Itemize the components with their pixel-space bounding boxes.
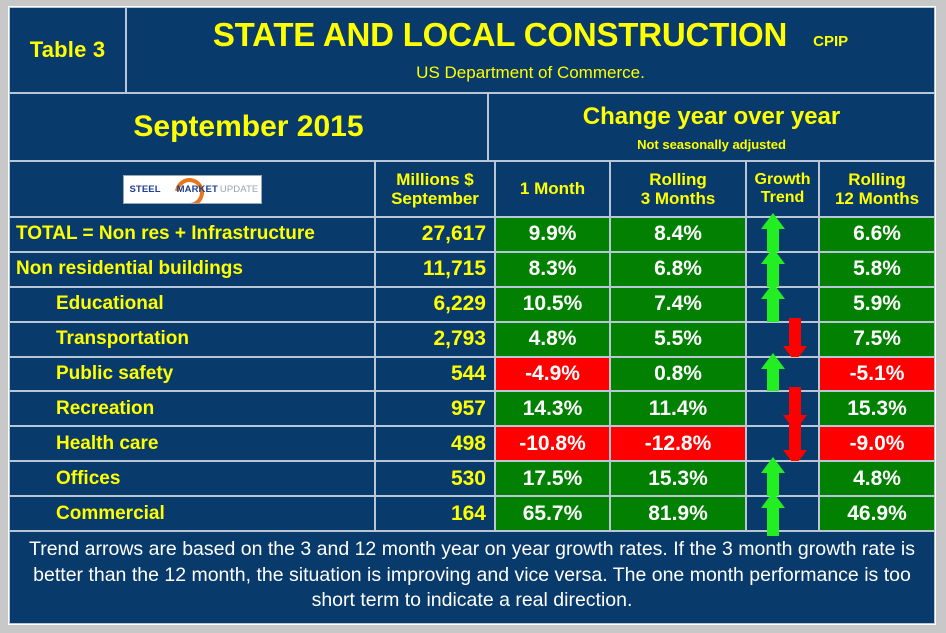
row-rolling-3-cell: 0.8% (610, 357, 746, 392)
row-one-month: 4.8% (529, 327, 577, 351)
row-millions-cell: 530 (375, 461, 495, 496)
row-rolling-3-cell: 6.8% (610, 252, 746, 287)
row-rolling-12-cell: 6.6% (819, 217, 935, 252)
row-rolling-3-cell: 5.5% (610, 322, 746, 357)
row-one-month-cell: 65.7% (495, 496, 610, 531)
row-label-cell: Recreation (9, 391, 375, 426)
footnote: Trend arrows are based on the 3 and 12 m… (9, 531, 935, 624)
row-one-month: 65.7% (523, 502, 583, 526)
footnote-text: Trend arrows are based on the 3 and 12 m… (22, 537, 922, 614)
title-badge: CPIP (813, 33, 848, 50)
column-header-rolling-12: Rolling 12 Months (819, 161, 935, 217)
period-band: September 2015 Change year over year Not… (9, 93, 935, 161)
row-rolling-12-cell: 5.8% (819, 252, 935, 287)
column-header-one-month: 1 Month (495, 161, 610, 217)
row-rolling-3-cell: -12.8% (610, 426, 746, 461)
row-rolling-12-cell: 4.8% (819, 461, 935, 496)
row-one-month-cell: 10.5% (495, 287, 610, 322)
row-label-cell: Offices (9, 461, 375, 496)
row-rolling-12-cell: 5.9% (819, 287, 935, 322)
row-rolling-12: 5.8% (853, 257, 901, 281)
column-header-millions: Millions $ September (375, 161, 495, 217)
row-rolling-12: 15.3% (847, 397, 907, 421)
row-label-cell: Non residential buildings (9, 252, 375, 287)
row-millions: 544 (451, 362, 486, 386)
row-rolling-3-cell: 8.4% (610, 217, 746, 252)
period-label: September 2015 (133, 110, 363, 144)
row-rolling-12-cell: 7.5% (819, 322, 935, 357)
row-rolling-3: 81.9% (648, 502, 708, 526)
table-sheet: Table 3 STATE AND LOCAL CONSTRUCTION CPI… (8, 6, 936, 625)
row-rolling-3: 8.4% (654, 222, 702, 246)
change-note: Not seasonally adjusted (637, 137, 786, 152)
column-header-rolling-12-line1: Rolling (848, 170, 906, 189)
row-rolling-3-cell: 15.3% (610, 461, 746, 496)
row-millions: 6,229 (433, 292, 486, 316)
column-header-growth-trend-line2: Trend (761, 189, 805, 207)
row-one-month: -10.8% (519, 432, 586, 456)
row-one-month-cell: 4.8% (495, 322, 610, 357)
row-label: Commercial (56, 503, 165, 525)
column-header-row: STEELMARKETUPDATE Millions $ September 1… (9, 161, 935, 217)
row-rolling-3: 7.4% (654, 292, 702, 316)
row-rolling-3-cell: 7.4% (610, 287, 746, 322)
row-rolling-12-cell: 46.9% (819, 496, 935, 531)
row-label: Offices (56, 468, 120, 490)
row-one-month-cell: -4.9% (495, 357, 610, 392)
row-rolling-3-cell: 81.9% (610, 496, 746, 531)
row-rolling-12: -5.1% (850, 362, 905, 386)
row-millions-cell: 27,617 (375, 217, 495, 252)
row-label: Educational (56, 293, 164, 315)
row-rolling-12-cell: -5.1% (819, 357, 935, 392)
column-header-growth-trend: Growth Trend (746, 161, 819, 217)
row-millions: 498 (451, 432, 486, 456)
title-row: STATE AND LOCAL CONSTRUCTION CPIP (127, 16, 934, 54)
row-rolling-12-cell: 15.3% (819, 391, 935, 426)
row-rolling-3: 6.8% (654, 257, 702, 281)
row-label: Health care (56, 433, 158, 455)
row-label: Non residential buildings (16, 258, 243, 280)
row-one-month-cell: 9.9% (495, 217, 610, 252)
row-label: Recreation (56, 398, 154, 420)
title-band: Table 3 STATE AND LOCAL CONSTRUCTION CPI… (9, 7, 935, 93)
row-rolling-12: 4.8% (853, 467, 901, 491)
row-millions-cell: 11,715 (375, 252, 495, 287)
logo-word-steel: STEEL (130, 184, 161, 195)
steel-market-update-logo: STEELMARKETUPDATE (123, 175, 262, 204)
row-millions: 164 (451, 502, 486, 526)
row-millions: 27,617 (422, 222, 486, 246)
row-label-cell: Health care (9, 426, 375, 461)
row-one-month: 14.3% (523, 397, 583, 421)
column-header-rolling-3: Rolling 3 Months (610, 161, 746, 217)
row-millions-cell: 498 (375, 426, 495, 461)
row-one-month-cell: 14.3% (495, 391, 610, 426)
slide-frame: Table 3 STATE AND LOCAL CONSTRUCTION CPI… (0, 0, 946, 633)
row-rolling-3-cell: 11.4% (610, 391, 746, 426)
row-millions-cell: 2,793 (375, 322, 495, 357)
title-source: US Department of Commerce. (416, 63, 645, 83)
logo-cell: STEELMARKETUPDATE (9, 161, 375, 217)
row-rolling-3: 5.5% (654, 327, 702, 351)
row-label: TOTAL = Non res + Infrastructure (16, 223, 315, 245)
row-millions-cell: 164 (375, 496, 495, 531)
row-millions-cell: 6,229 (375, 287, 495, 322)
row-rolling-12: -9.0% (850, 432, 905, 456)
row-label-cell: Transportation (9, 322, 375, 357)
table-row: Commercial16465.7%81.9%46.9% (9, 496, 935, 531)
table-row: TOTAL = Non res + Infrastructure27,6179.… (9, 217, 935, 252)
table-row: Health care498-10.8%-12.8%-9.0% (9, 426, 935, 461)
row-label: Transportation (56, 328, 189, 350)
row-one-month: -4.9% (525, 362, 580, 386)
row-millions: 11,715 (423, 257, 486, 281)
row-one-month: 9.9% (529, 222, 577, 246)
row-millions: 957 (451, 397, 486, 421)
row-rolling-12: 46.9% (847, 502, 907, 526)
row-one-month-cell: 8.3% (495, 252, 610, 287)
logo-word-update: UPDATE (220, 184, 258, 195)
row-one-month: 8.3% (529, 257, 577, 281)
row-rolling-3: 0.8% (654, 362, 702, 386)
title-block: STATE AND LOCAL CONSTRUCTION CPIP US Dep… (126, 7, 935, 93)
row-millions-cell: 544 (375, 357, 495, 392)
row-rolling-12: 5.9% (853, 292, 901, 316)
row-millions-cell: 957 (375, 391, 495, 426)
table-number: Table 3 (9, 7, 126, 93)
row-rolling-3: 11.4% (649, 397, 707, 421)
data-rows: TOTAL = Non res + Infrastructure27,6179.… (9, 217, 935, 531)
table-row: Offices53017.5%15.3%4.8% (9, 461, 935, 496)
column-header-millions-line2: September (391, 189, 479, 208)
period-cell: September 2015 (9, 93, 488, 161)
row-one-month: 17.5% (523, 467, 583, 491)
row-one-month-cell: 17.5% (495, 461, 610, 496)
table-row: Transportation2,7934.8%5.5%7.5% (9, 322, 935, 357)
row-millions: 2,793 (433, 327, 486, 351)
logo-text: STEELMARKETUPDATE (124, 184, 259, 195)
row-label-cell: Public safety (9, 357, 375, 392)
column-header-rolling-12-line2: 12 Months (835, 189, 919, 208)
row-rolling-3: 15.3% (648, 467, 708, 491)
column-header-one-month-label: 1 Month (520, 179, 585, 198)
change-title: Change year over year (583, 103, 840, 131)
column-header-growth-trend-line1: Growth (755, 171, 811, 189)
column-header-rolling-3-line2: 3 Months (641, 189, 716, 208)
row-rolling-12: 7.5% (853, 327, 901, 351)
row-one-month: 10.5% (523, 292, 583, 316)
logo-word-market: MARKET (177, 184, 218, 195)
row-rolling-12-cell: -9.0% (819, 426, 935, 461)
column-header-millions-line1: Millions $ (396, 170, 473, 189)
row-label-cell: Commercial (9, 496, 375, 531)
row-millions: 530 (451, 467, 486, 491)
change-group-cell: Change year over year Not seasonally adj… (488, 93, 935, 161)
column-header-rolling-3-line1: Rolling (649, 170, 707, 189)
arrow-up-icon (760, 491, 786, 537)
row-rolling-3: -12.8% (645, 432, 712, 456)
row-label-cell: TOTAL = Non res + Infrastructure (9, 217, 375, 252)
row-one-month-cell: -10.8% (495, 426, 610, 461)
row-label-cell: Educational (9, 287, 375, 322)
row-growth-trend-cell (746, 496, 819, 531)
row-label: Public safety (56, 363, 173, 385)
page-title: STATE AND LOCAL CONSTRUCTION (213, 16, 787, 54)
row-rolling-12: 6.6% (853, 222, 901, 246)
table-row: Non residential buildings11,7158.3%6.8%5… (9, 252, 935, 287)
